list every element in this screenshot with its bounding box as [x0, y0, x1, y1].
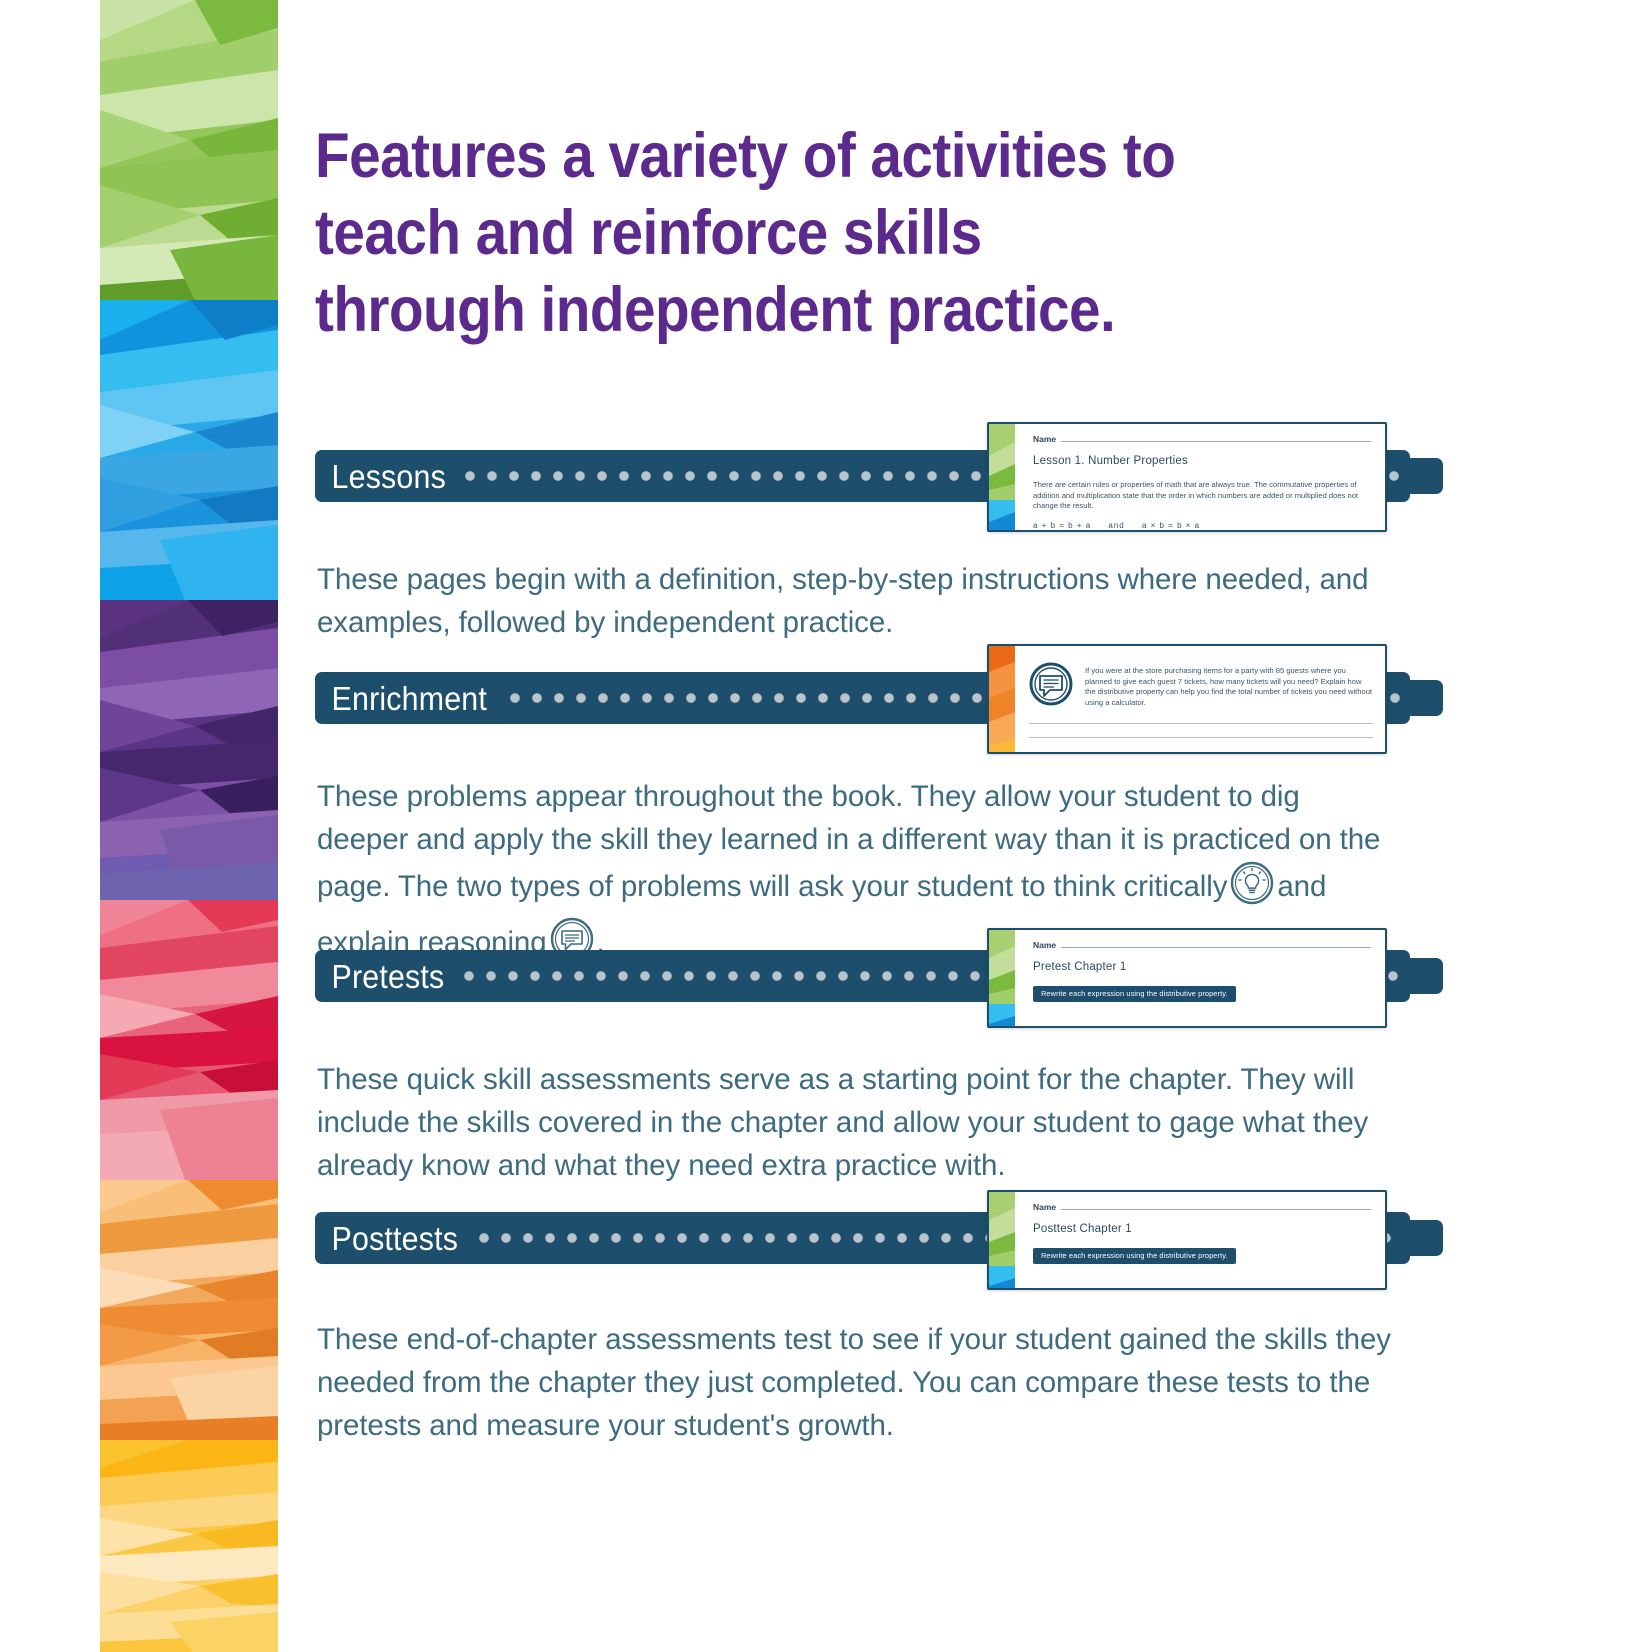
thumbnail-lesson-page[interactable]: Name Lesson 1. Number Properties There a… [987, 422, 1387, 532]
thumbnail-posttest-page[interactable]: Name Posttest Chapter 1 Rewrite each exp… [987, 1190, 1387, 1290]
lesson-thumbnail-body: Name Lesson 1. Number Properties There a… [1015, 424, 1385, 530]
enrichment-bar-tab [1403, 680, 1443, 716]
posttests-paragraph: These end-of-chapter assessments test to… [317, 1318, 1395, 1447]
lightbulb-icon [1230, 861, 1274, 917]
lessons-label: Lessons [315, 460, 446, 493]
posttest-title: Posttest Chapter 1 [1033, 1223, 1371, 1235]
name-field-label: Name [1033, 1202, 1056, 1212]
enrichment-prompt-text: If you were at the store purchasing item… [1085, 662, 1373, 708]
enrichment-thumbnail-body: If you were at the store purchasing item… [1015, 646, 1385, 752]
math-expression-right: a × b = b × a [1142, 521, 1200, 530]
name-field-row: Name [1033, 434, 1371, 444]
lesson-body-text: There are certain rules or properties of… [1033, 480, 1371, 512]
name-field-label: Name [1033, 940, 1056, 950]
enrichment-answer-lines [1029, 723, 1373, 738]
deco-band-green [100, 0, 278, 300]
pretest-instruction-bar: Rewrite each expression using the distri… [1033, 986, 1236, 1002]
thumbnail-color-strip [989, 646, 1015, 752]
name-field-rule [1061, 947, 1371, 948]
pretest-title: Pretest Chapter 1 [1033, 961, 1371, 973]
decorative-color-strip [100, 0, 278, 1652]
deco-band-red [100, 900, 278, 1180]
enrichment-prompt-row: If you were at the store purchasing item… [1029, 652, 1373, 711]
speech-bubble-icon [1029, 662, 1073, 711]
lesson-math-row: a + b = b + a and a × b = b × a [1033, 521, 1371, 530]
name-field-rule [1061, 1209, 1371, 1210]
page-content: Features a variety of activities to teac… [315, 0, 1425, 1652]
deco-band-yellow [100, 1440, 278, 1652]
thumbnail-enrichment-page[interactable]: If you were at the store purchasing item… [987, 644, 1387, 754]
lesson-math-row-2: 3 + 5 = 5 + 3 5 × 6 = 6 × 5 [1033, 532, 1371, 533]
pretests-bar-tab [1403, 958, 1443, 994]
thumbnail-color-strip [989, 1192, 1015, 1288]
lesson-title: Lesson 1. Number Properties [1033, 455, 1371, 467]
name-field-row: Name [1033, 1202, 1371, 1212]
deco-band-orange [100, 1180, 278, 1440]
posttest-instruction-bar: Rewrite each expression using the distri… [1033, 1248, 1236, 1264]
deco-band-blue [100, 300, 278, 600]
name-field-label: Name [1033, 434, 1056, 444]
deco-band-purple [100, 600, 278, 900]
enrichment-label: Enrichment [315, 682, 487, 715]
answer-line [1029, 723, 1373, 724]
math-expression-left-2: 3 + 5 = 5 + 3 [1033, 532, 1091, 533]
math-expression-left: a + b = b + a [1033, 521, 1091, 530]
thumbnail-pretest-page[interactable]: Name Pretest Chapter 1 Rewrite each expr… [987, 928, 1387, 1028]
posttests-bar-tab [1403, 1220, 1443, 1256]
lessons-paragraph: These pages begin with a definition, ste… [317, 558, 1395, 644]
math-conjunction: and [1094, 521, 1138, 530]
name-field-row: Name [1033, 940, 1371, 950]
pretests-paragraph: These quick skill assessments serve as a… [317, 1058, 1395, 1187]
name-field-rule [1061, 441, 1371, 442]
answer-line [1029, 737, 1373, 738]
page-title: Features a variety of activities to teac… [315, 118, 1197, 349]
pretest-thumbnail-body: Name Pretest Chapter 1 Rewrite each expr… [1015, 930, 1385, 1026]
pretests-label: Pretests [315, 960, 444, 993]
enrichment-paragraph-part-1: These problems appear throughout the boo… [317, 780, 1380, 903]
lessons-bar-tab [1403, 458, 1443, 494]
posttests-label: Posttests [315, 1222, 458, 1255]
posttest-thumbnail-body: Name Posttest Chapter 1 Rewrite each exp… [1015, 1192, 1385, 1288]
decorative-facets-svg [100, 0, 278, 1652]
thumbnail-color-strip [989, 424, 1015, 530]
thumbnail-color-strip [989, 930, 1015, 1026]
math-expression-right-2: 5 × 6 = 6 × 5 [1158, 532, 1216, 533]
